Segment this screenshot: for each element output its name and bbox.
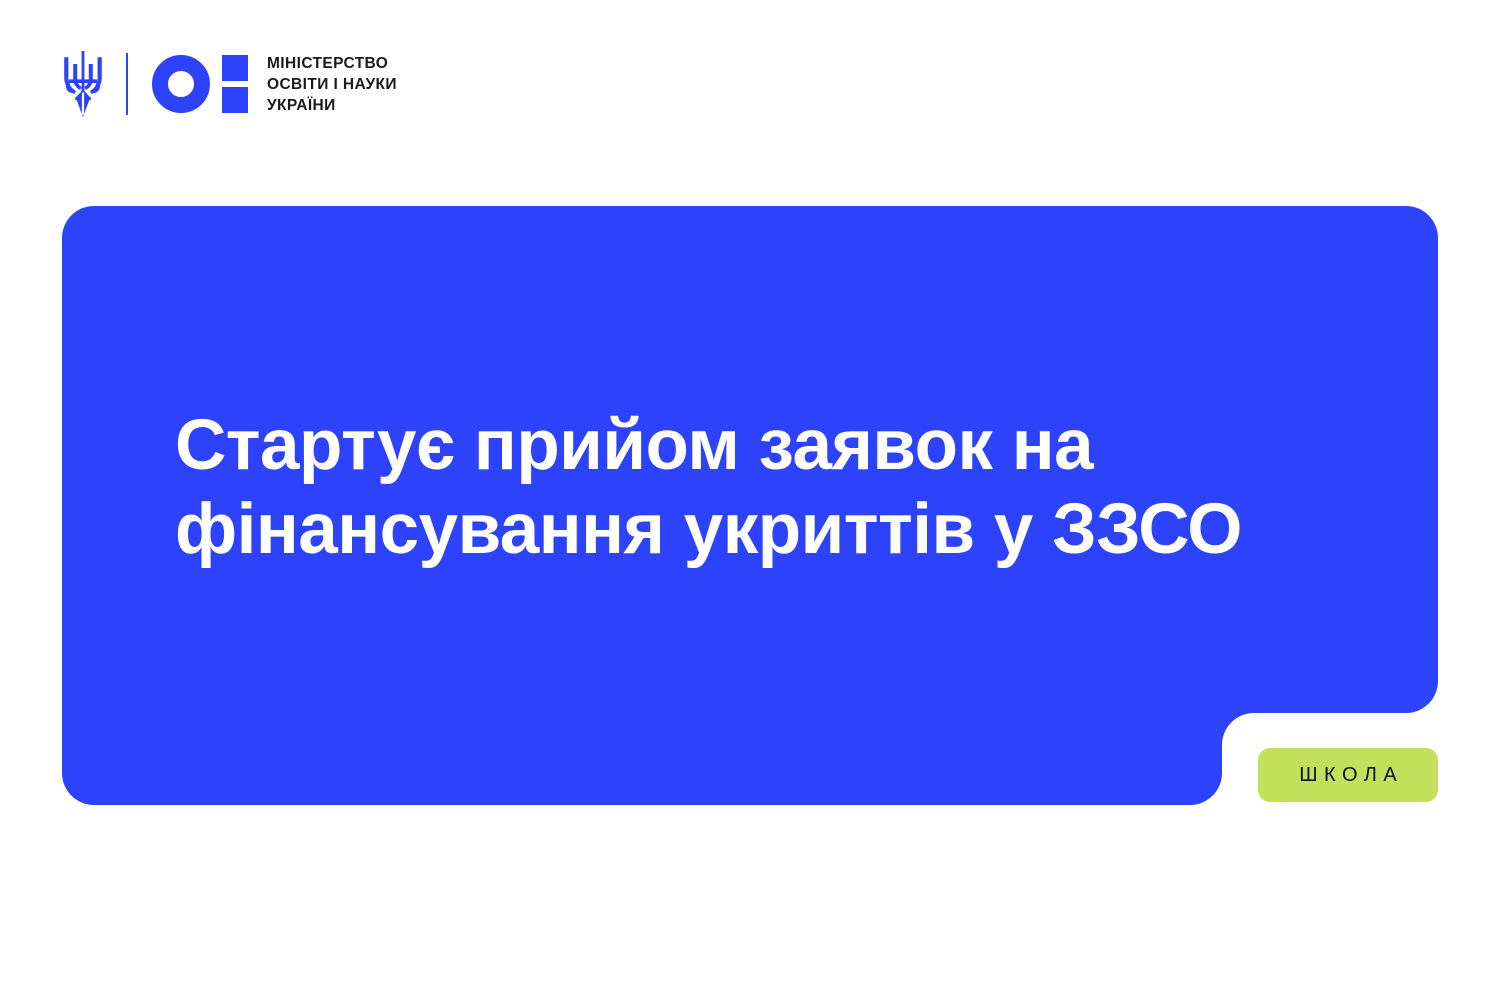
- logo-divider: [126, 53, 128, 115]
- category-badge[interactable]: ШКОЛА: [1258, 748, 1438, 802]
- page-title: Стартує прийом заявок на фінансування ук…: [175, 404, 1275, 572]
- mon-square-top: [222, 55, 248, 81]
- brand-header: МІНІСТЕРСТВО ОСВІТИ І НАУКИ УКРАЇНИ: [62, 46, 397, 122]
- ministry-line-2: ОСВІТИ І НАУКИ: [267, 76, 397, 93]
- page-title-line-2: фінансування укриттів у ЗЗСО: [175, 490, 1242, 569]
- mon-square-bottom: [222, 87, 248, 113]
- mon-squares-shape: [222, 55, 248, 113]
- mon-ring-shape: [152, 55, 210, 113]
- page-title-line-1: Стартує прийом заявок на: [175, 406, 1093, 485]
- ukrainian-trident-emblem-icon: [62, 51, 104, 117]
- ministry-name: МІНІСТЕРСТВО ОСВІТИ І НАУКИ УКРАЇНИ: [267, 53, 397, 116]
- ministry-line-3: УКРАЇНИ: [267, 97, 336, 114]
- announcement-card: Стартує прийом заявок на фінансування ук…: [62, 206, 1438, 805]
- category-badge-label: ШКОЛА: [1293, 764, 1404, 787]
- mon-o-mark-icon: [152, 55, 248, 113]
- ministry-line-1: МІНІСТЕРСТВО: [267, 55, 388, 72]
